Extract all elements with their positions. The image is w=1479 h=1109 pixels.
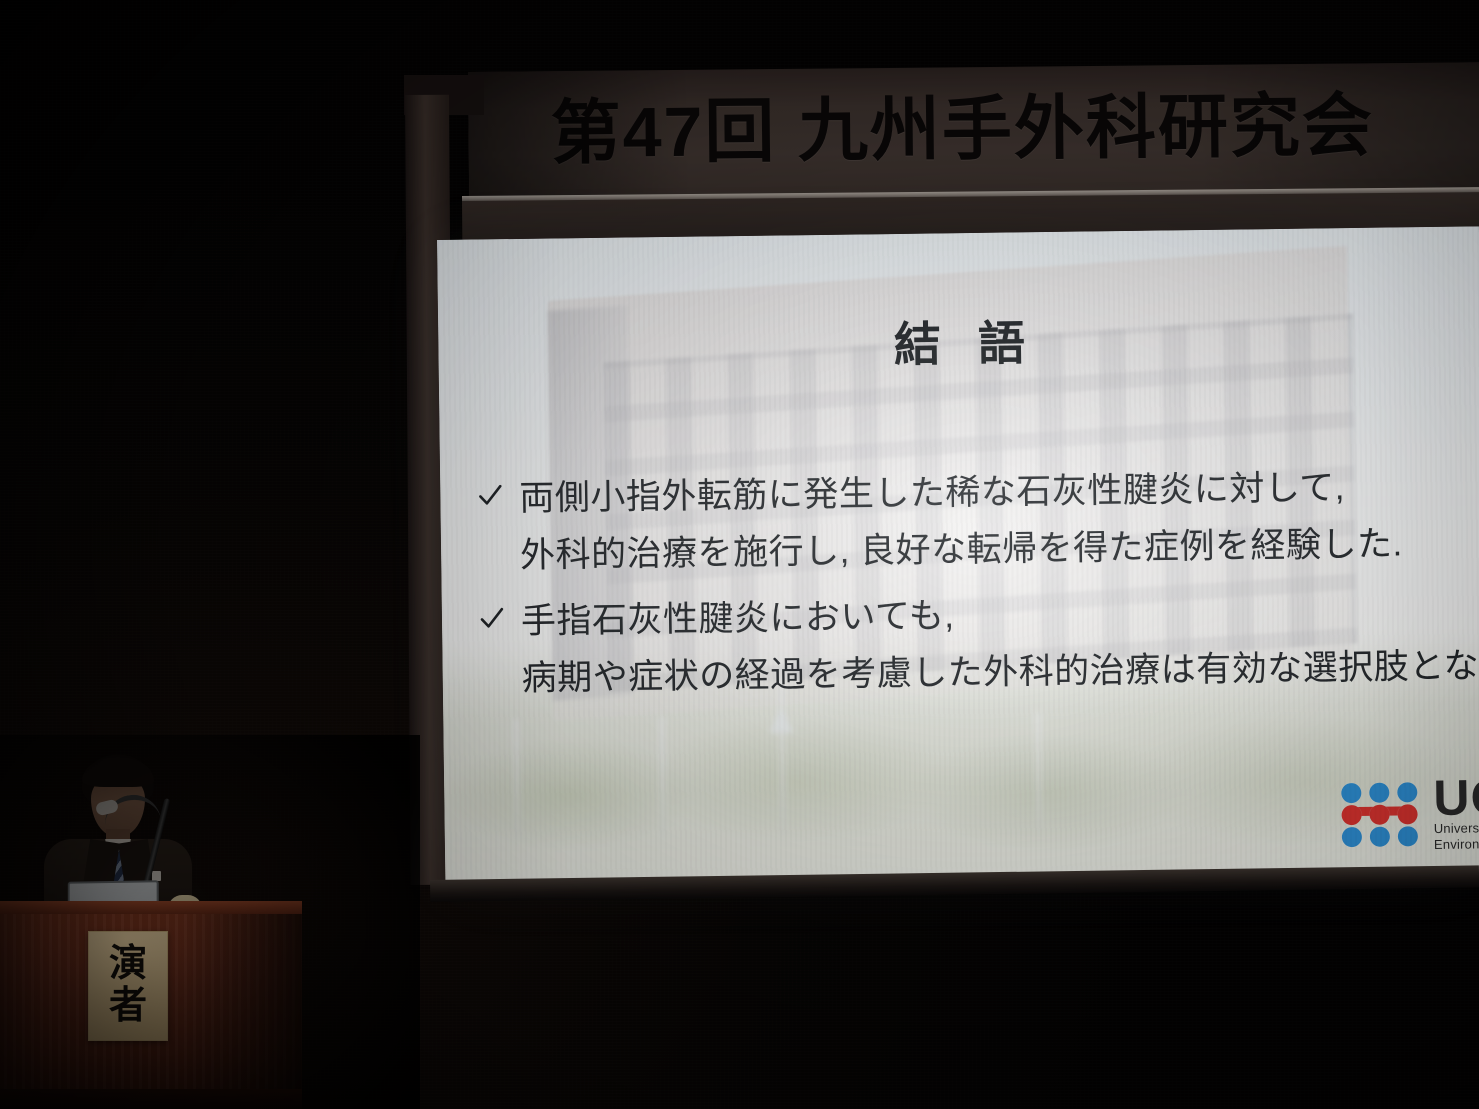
podium-base: [0, 1089, 302, 1109]
speaker-placard-char-1: 演: [109, 945, 147, 985]
projector-scanline-texture: [437, 226, 1479, 888]
speaker-placard: 演 者: [88, 931, 168, 1041]
speaker-placard-char-2: 者: [109, 987, 147, 1027]
venue-banner: 第47回 九州手外科研究会: [468, 62, 1479, 208]
presenter-hair-front: [82, 757, 154, 787]
auditorium-photo: 第47回 九州手外科研究会 結 語: [0, 0, 1479, 1109]
presenter-podium-group: 演 者: [0, 735, 330, 1109]
venue-banner-text: 第47回 九州手外科研究会: [550, 69, 1374, 178]
podium-ledge: [0, 901, 302, 914]
projection-screen: 結 語 両側小指外転筋に発生した稀な石灰性腱炎に対して, 外科的治療を施行し, …: [437, 226, 1479, 888]
